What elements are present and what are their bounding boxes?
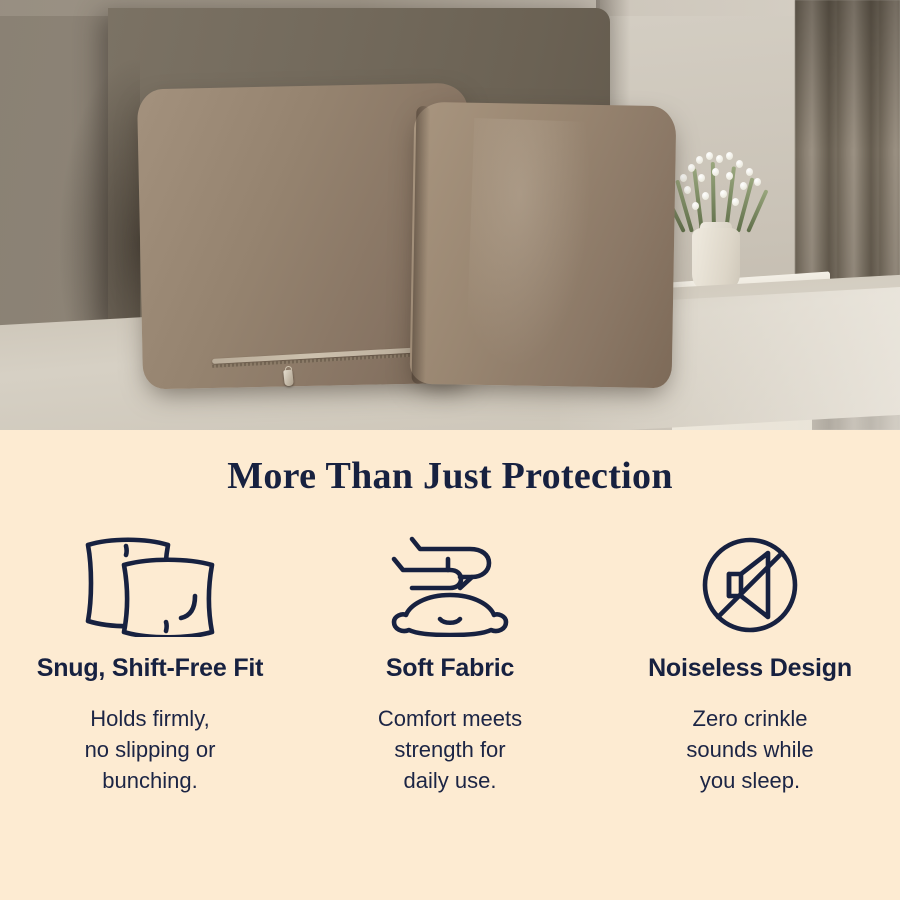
feature-description: Holds firmly, no slipping or bunching. (85, 703, 216, 797)
feature-description: Comfort meets strength for daily use. (378, 703, 522, 797)
feature-title: Soft Fabric (386, 654, 514, 683)
pillow-sheen-highlight (466, 118, 595, 372)
two-pillows-icon (80, 530, 220, 640)
page-title: More Than Just Protection (0, 454, 900, 498)
zipper-pull-tab (283, 370, 294, 387)
feature-column-snug-shift-free-fit: Snug, Shift-Free Fit Holds firmly, no sl… (0, 530, 300, 797)
feature-panel: More Than Just Protection (0, 430, 900, 900)
feature-title: Snug, Shift-Free Fit (37, 654, 264, 683)
product-feature-graphic: More Than Just Protection (0, 0, 900, 900)
feature-title: Noiseless Design (648, 654, 852, 683)
vase (692, 228, 740, 290)
flower-bouquet (668, 152, 772, 232)
feature-description: Zero crinkle sounds while you sleep. (686, 703, 813, 797)
bedroom-pillow-hero-photo (0, 0, 900, 430)
hand-touching-soft-pillow-icon (386, 530, 514, 640)
muted-speaker-no-sound-icon (698, 530, 802, 640)
feature-columns: Snug, Shift-Free Fit Holds firmly, no sl… (0, 530, 900, 797)
feature-column-noiseless-design: Noiseless Design Zero crinkle sounds whi… (600, 530, 900, 797)
feature-column-soft-fabric: Soft Fabric Comfort meets strength for d… (300, 530, 600, 797)
